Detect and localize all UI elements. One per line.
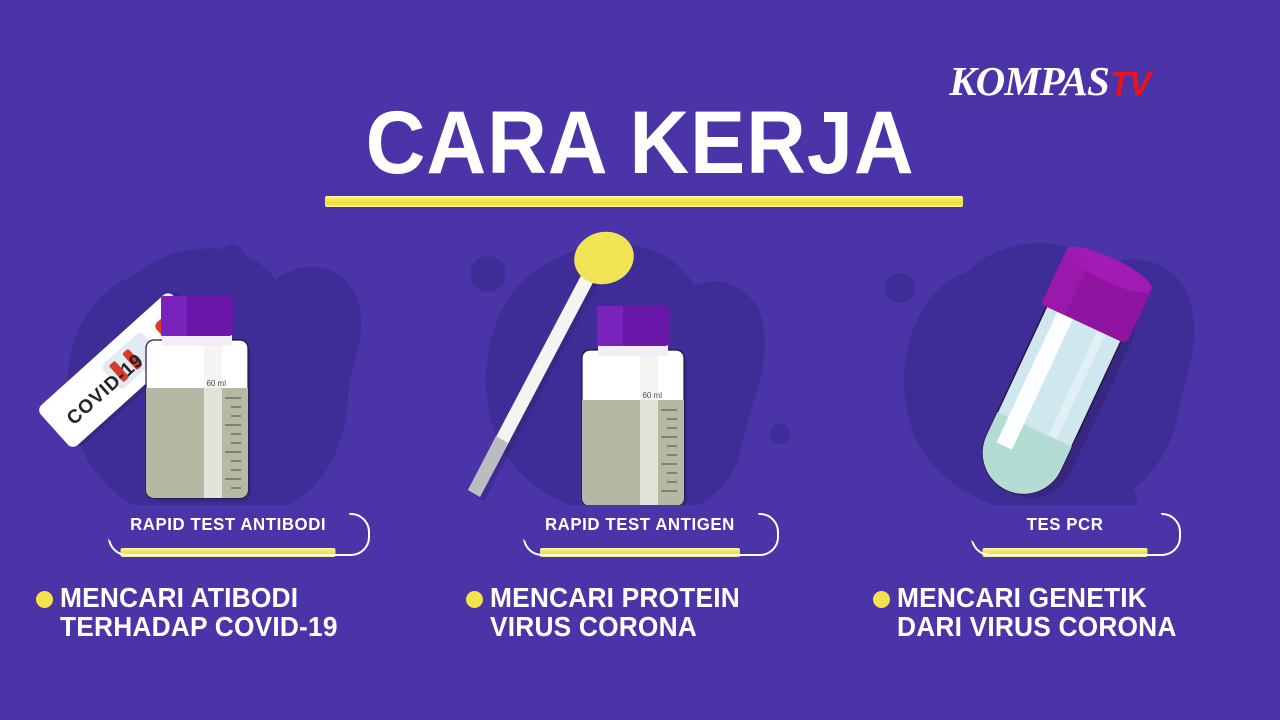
illustration-rapid-test-cassette: COVID-19 <box>18 228 438 528</box>
column-rapid-test-antibodi: COVID-19 <box>18 228 438 708</box>
tag-rapid-test-antibodi: RAPID TEST ANTIBODI <box>18 505 438 545</box>
caption-line-2: VIRUS CORONA <box>490 612 740 641</box>
caption-line-2: TERHADAP COVID-19 <box>60 612 338 641</box>
tag-label: RAPID TEST ANTIBODI <box>105 505 351 545</box>
caption-line-1: MENCARI ATIBODI <box>60 582 298 613</box>
caption-text-block: MENCARI ATIBODI TERHADAP COVID-19 <box>60 583 338 641</box>
tag-rapid-test-antigen: RAPID TEST ANTIGEN <box>430 505 850 545</box>
tag-tes-pcr: TES PCR <box>855 505 1275 545</box>
logo-kompas-text: KOMPAS <box>949 57 1109 105</box>
column-rapid-test-antigen: 60 ml RAPID TEST ANTIGEN MENCARI PROTEIN <box>430 228 850 708</box>
test-tube <box>964 239 1157 510</box>
svg-text:60 ml: 60 ml <box>642 391 662 400</box>
column-tes-pcr: TES PCR MENCARI GENETIK DARI VIRUS CORON… <box>855 228 1275 708</box>
page-title: CARA KERJA <box>0 99 1280 185</box>
columns-container: COVID-19 <box>0 228 1280 708</box>
illustration-test-tube-with-swab <box>855 228 1275 528</box>
tag-label: TES PCR <box>967 505 1163 545</box>
caption-text-block: MENCARI PROTEIN VIRUS CORONA <box>490 583 740 641</box>
caption-text-block: MENCARI GENETIK DARI VIRUS CORONA <box>897 583 1177 641</box>
bullet-dot-icon <box>873 591 890 608</box>
tag-label: RAPID TEST ANTIGEN <box>520 505 760 545</box>
caption-tes-pcr: MENCARI GENETIK DARI VIRUS CORONA <box>873 583 1280 641</box>
svg-text:60 ml: 60 ml <box>206 379 226 388</box>
page-title-text: CARA KERJA <box>366 99 915 185</box>
infographic-canvas: KOMPAS TV CARA KERJA <box>0 0 1280 720</box>
caption-line-1: MENCARI PROTEIN <box>490 582 740 613</box>
caption-line-1: MENCARI GENETIK <box>897 582 1147 613</box>
buffer-bottle: 60 ml <box>582 306 684 510</box>
illustration-swab-and-bottle: 60 ml <box>430 228 850 528</box>
buffer-bottle: 60 ml <box>146 296 248 500</box>
bullet-dot-icon <box>466 591 483 608</box>
title-underline-bar <box>325 196 963 207</box>
bullet-dot-icon <box>36 591 53 608</box>
caption-rapid-test-antigen: MENCARI PROTEIN VIRUS CORONA <box>466 583 906 641</box>
caption-line-2: DARI VIRUS CORONA <box>897 612 1177 641</box>
logo-tv-text: TV <box>1110 65 1150 103</box>
caption-rapid-test-antibodi: MENCARI ATIBODI TERHADAP COVID-19 <box>36 583 476 641</box>
kompastv-logo: KOMPAS TV <box>949 57 1150 105</box>
